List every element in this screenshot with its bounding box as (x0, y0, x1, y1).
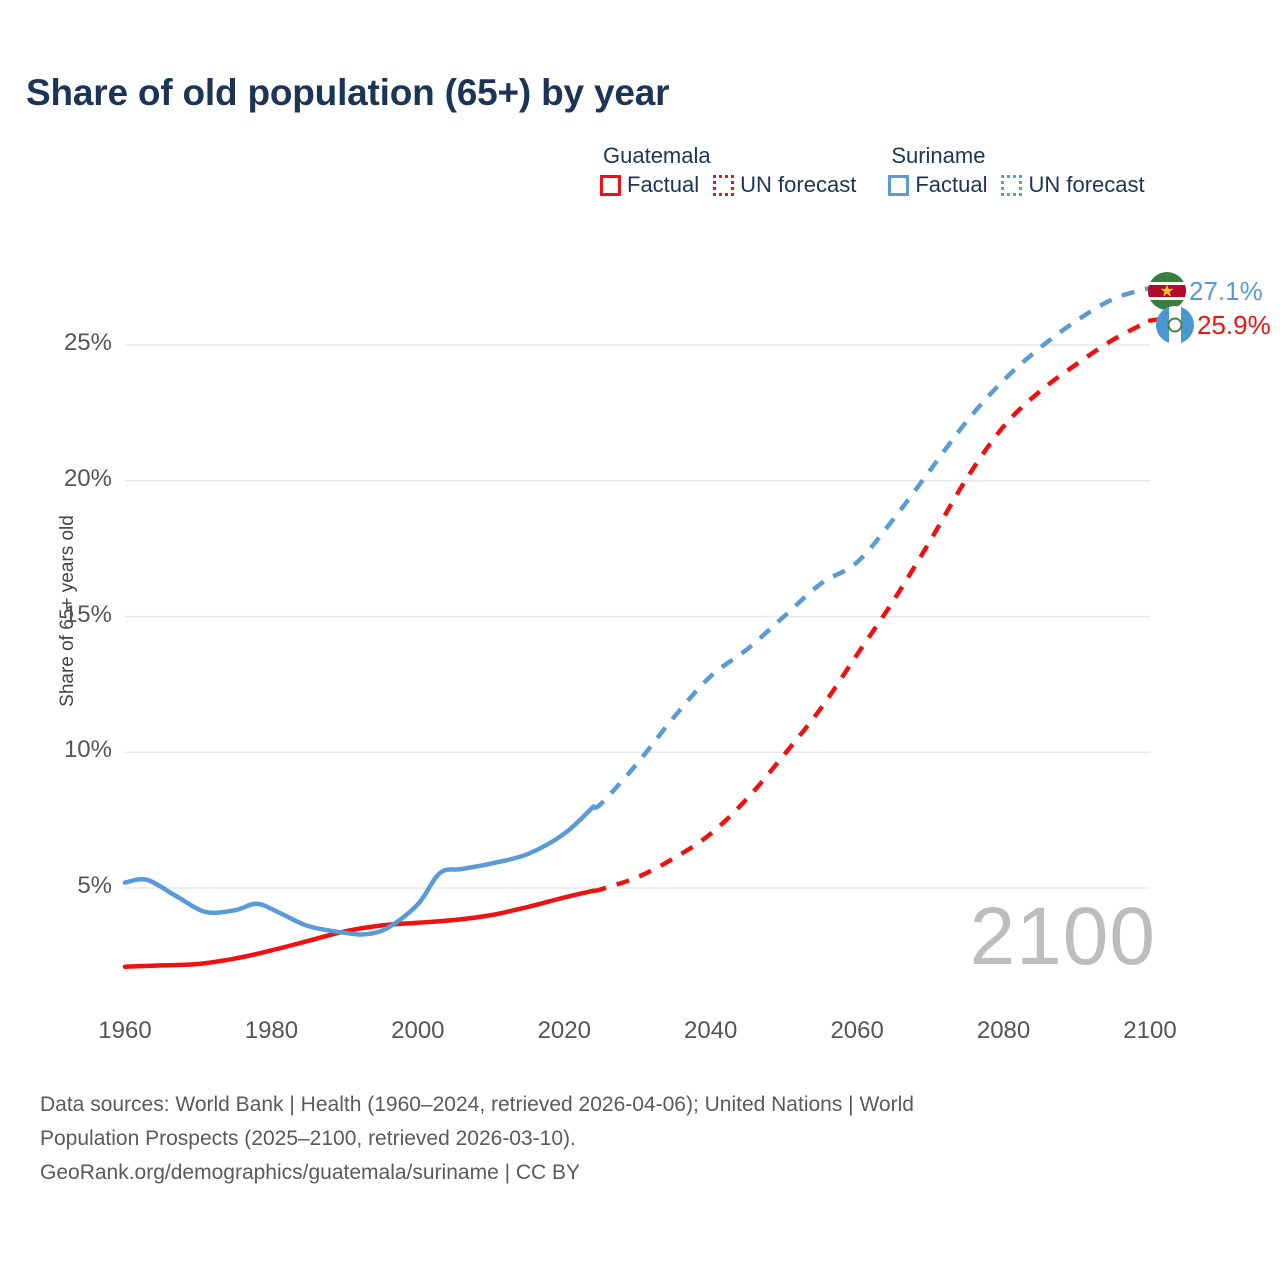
x-axis-tick-label: 2080 (944, 1017, 1064, 1045)
suriname-flag-icon: ★ (1148, 272, 1186, 310)
end-label-suriname: ★ 27.1% (1148, 272, 1263, 310)
footer-line-3: GeoRank.org/demographics/guatemala/surin… (40, 1156, 1220, 1190)
end-value-guatemala: 25.9% (1197, 312, 1271, 338)
year-watermark: 2100 (970, 890, 1156, 984)
footer-line-1: Data sources: World Bank | Health (1960–… (40, 1088, 1220, 1122)
x-axis-tick-label: 2100 (1090, 1017, 1210, 1045)
y-axis-tick-label: 20% (32, 465, 112, 493)
x-axis-tick-label: 2020 (504, 1017, 624, 1045)
y-axis-tick-label: 10% (32, 736, 112, 764)
x-axis-tick-label: 2040 (651, 1017, 771, 1045)
end-value-suriname: 27.1% (1189, 278, 1263, 304)
x-axis-tick-label: 2060 (797, 1017, 917, 1045)
footer-sources: Data sources: World Bank | Health (1960–… (40, 1088, 1220, 1190)
footer-line-2: Population Prospects (2025–2100, retriev… (40, 1122, 1220, 1156)
end-label-guatemala: 25.9% (1156, 306, 1271, 344)
y-axis-tick-label: 15% (32, 601, 112, 629)
chart-page: Share of old population (65+) by year Gu… (0, 0, 1280, 1280)
x-axis-tick-label: 1960 (65, 1017, 185, 1045)
x-axis-tick-label: 1980 (211, 1017, 331, 1045)
x-axis-tick-label: 2000 (358, 1017, 478, 1045)
y-axis-tick-label: 5% (32, 872, 112, 900)
y-axis-tick-label: 25% (32, 329, 112, 357)
guatemala-flag-icon (1156, 306, 1194, 344)
